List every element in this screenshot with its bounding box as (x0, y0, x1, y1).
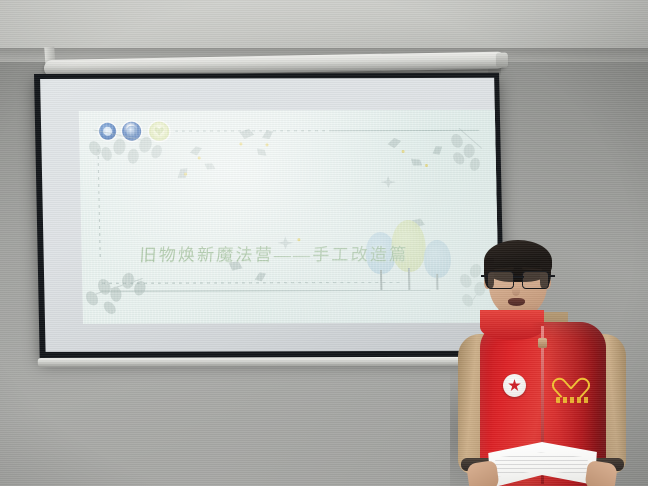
petal-shape (380, 176, 396, 188)
nose (512, 287, 520, 296)
flower-dot (265, 143, 268, 146)
petal-shape (203, 160, 217, 173)
projection-screen: 旧物焕新魔法营——手工改造篇 (34, 73, 505, 359)
leaf-branch-bottomleft (84, 261, 163, 321)
flower-dot (239, 142, 242, 145)
screen-weight-bar (38, 357, 508, 367)
petal-shape (175, 165, 192, 182)
hand-left (466, 460, 500, 486)
petal-shape (386, 136, 402, 149)
vest-collar (480, 310, 544, 340)
flower-dot (402, 150, 405, 153)
hand-right (584, 460, 618, 486)
flower-dot (198, 157, 201, 160)
petal-shape (408, 155, 424, 170)
flower-dot (184, 173, 187, 176)
student-presenter (440, 238, 648, 486)
petal-shape (254, 145, 268, 159)
torso (458, 312, 626, 486)
flower-dot (425, 164, 428, 167)
presentation-slide: 旧物焕新魔法营——手工改造篇 (79, 110, 499, 324)
leaf-branch-topleft (87, 127, 168, 173)
petal-shape (430, 143, 445, 157)
housing-end-cap (496, 52, 508, 67)
leaf-branch-topright (445, 128, 494, 174)
volunteer-heart-logo-icon (559, 375, 581, 394)
volunteer-badge-icon (503, 374, 526, 397)
vest-zipper-pull (538, 338, 547, 348)
petal-shape (188, 145, 203, 158)
volunteer-heart-logo-text (556, 397, 590, 403)
glasses-icon (486, 271, 550, 288)
photo-scene: 旧物焕新魔法营——手工改造篇 (0, 0, 648, 486)
petal-shape (238, 127, 255, 141)
slide-title: 旧物焕新魔法营——手工改造篇 (139, 240, 409, 266)
